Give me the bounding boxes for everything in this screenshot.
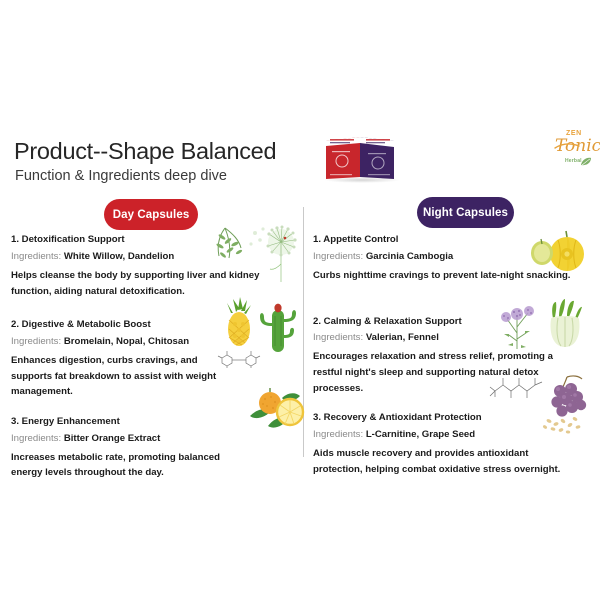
day-item-1-heading: 1. Detoxification Support [11,234,291,246]
night-item-3-ingredients: Ingredients: L-Carnitine, Grape Seed [313,429,596,441]
ingredients-label: Ingredients: [11,251,64,262]
infographic-page: Product--Shape Balanced Function & Ingre… [0,0,600,600]
day-item-1-ingredient-values: White Willow, Dandelion [64,251,174,262]
day-item-1-description: Helps cleanse the body by supporting liv… [11,268,263,299]
ingredients-label: Ingredients: [11,336,64,347]
badge-night-capsules[interactable]: Night Capsules [417,197,514,228]
brand-tagline: Herbal [565,158,582,164]
day-item-2-ingredient-values: Bromelain, Nopal, Chitosan [64,336,189,347]
night-item-1-ingredients: Ingredients: Garcinia Cambogia [313,251,596,263]
brand-logo: ZEN Tonic Herbal [553,128,597,174]
night-capsules-column: 1. Appetite Control Ingredients: Garcini… [313,234,596,491]
product-box-image [320,133,402,185]
night-item-3-description: Aids muscle recovery and provides antiox… [313,446,568,477]
night-item-3-heading: 3. Recovery & Antioxidant Protection [313,412,596,424]
ingredients-label: Ingredients: [313,332,366,343]
night-item-3-ingredient-values: L-Carnitine, Grape Seed [366,429,475,440]
ingredients-label: Ingredients: [11,433,64,444]
night-item-2-ingredients: Ingredients: Valerian, Fennel [313,332,596,344]
night-item-1: 1. Appetite Control Ingredients: Garcini… [313,234,596,284]
day-item-3: 3. Energy Enhancement Ingredients: Bitte… [11,416,291,481]
column-divider [303,207,304,457]
product-box-shadow [324,177,400,183]
night-item-1-ingredient-values: Garcinia Cambogia [366,251,453,262]
badge-day-capsules[interactable]: Day Capsules [104,199,198,230]
page-title: Product--Shape Balanced [14,138,276,165]
ingredients-label: Ingredients: [313,251,366,262]
night-item-2: 2. Calming & Relaxation Support Ingredie… [313,316,596,397]
day-capsules-column: 1. Detoxification Support Ingredients: W… [11,234,291,495]
day-item-3-description: Increases metabolic rate, promoting bala… [11,450,254,481]
day-item-2-heading: 2. Digestive & Metabolic Boost [11,319,291,331]
day-item-2: 2. Digestive & Metabolic Boost Ingredien… [11,319,291,400]
night-item-1-description: Curbs nighttime cravings to prevent late… [313,268,575,284]
day-item-2-description: Enhances digestion, curbs cravings, and … [11,353,233,400]
ingredients-label: Ingredients: [313,429,366,440]
night-item-1-heading: 1. Appetite Control [313,234,596,246]
day-item-3-ingredient-values: Bitter Orange Extract [64,433,161,444]
night-item-2-ingredient-values: Valerian, Fennel [366,332,439,343]
night-item-2-heading: 2. Calming & Relaxation Support [313,316,596,328]
page-subtitle: Function & Ingredients deep dive [15,168,227,184]
night-item-3: 3. Recovery & Antioxidant Protection Ing… [313,412,596,477]
day-item-3-heading: 3. Energy Enhancement [11,416,291,428]
night-item-2-description: Encourages relaxation and stress relief,… [313,349,565,396]
brand-tonic-text: Tonic [555,136,600,156]
product-box-svg [320,133,402,183]
day-item-1-ingredients: Ingredients: White Willow, Dandelion [11,251,291,263]
day-item-1: 1. Detoxification Support Ingredients: W… [11,234,291,299]
day-item-3-ingredients: Ingredients: Bitter Orange Extract [11,433,291,445]
day-item-2-ingredients: Ingredients: Bromelain, Nopal, Chitosan [11,336,291,348]
